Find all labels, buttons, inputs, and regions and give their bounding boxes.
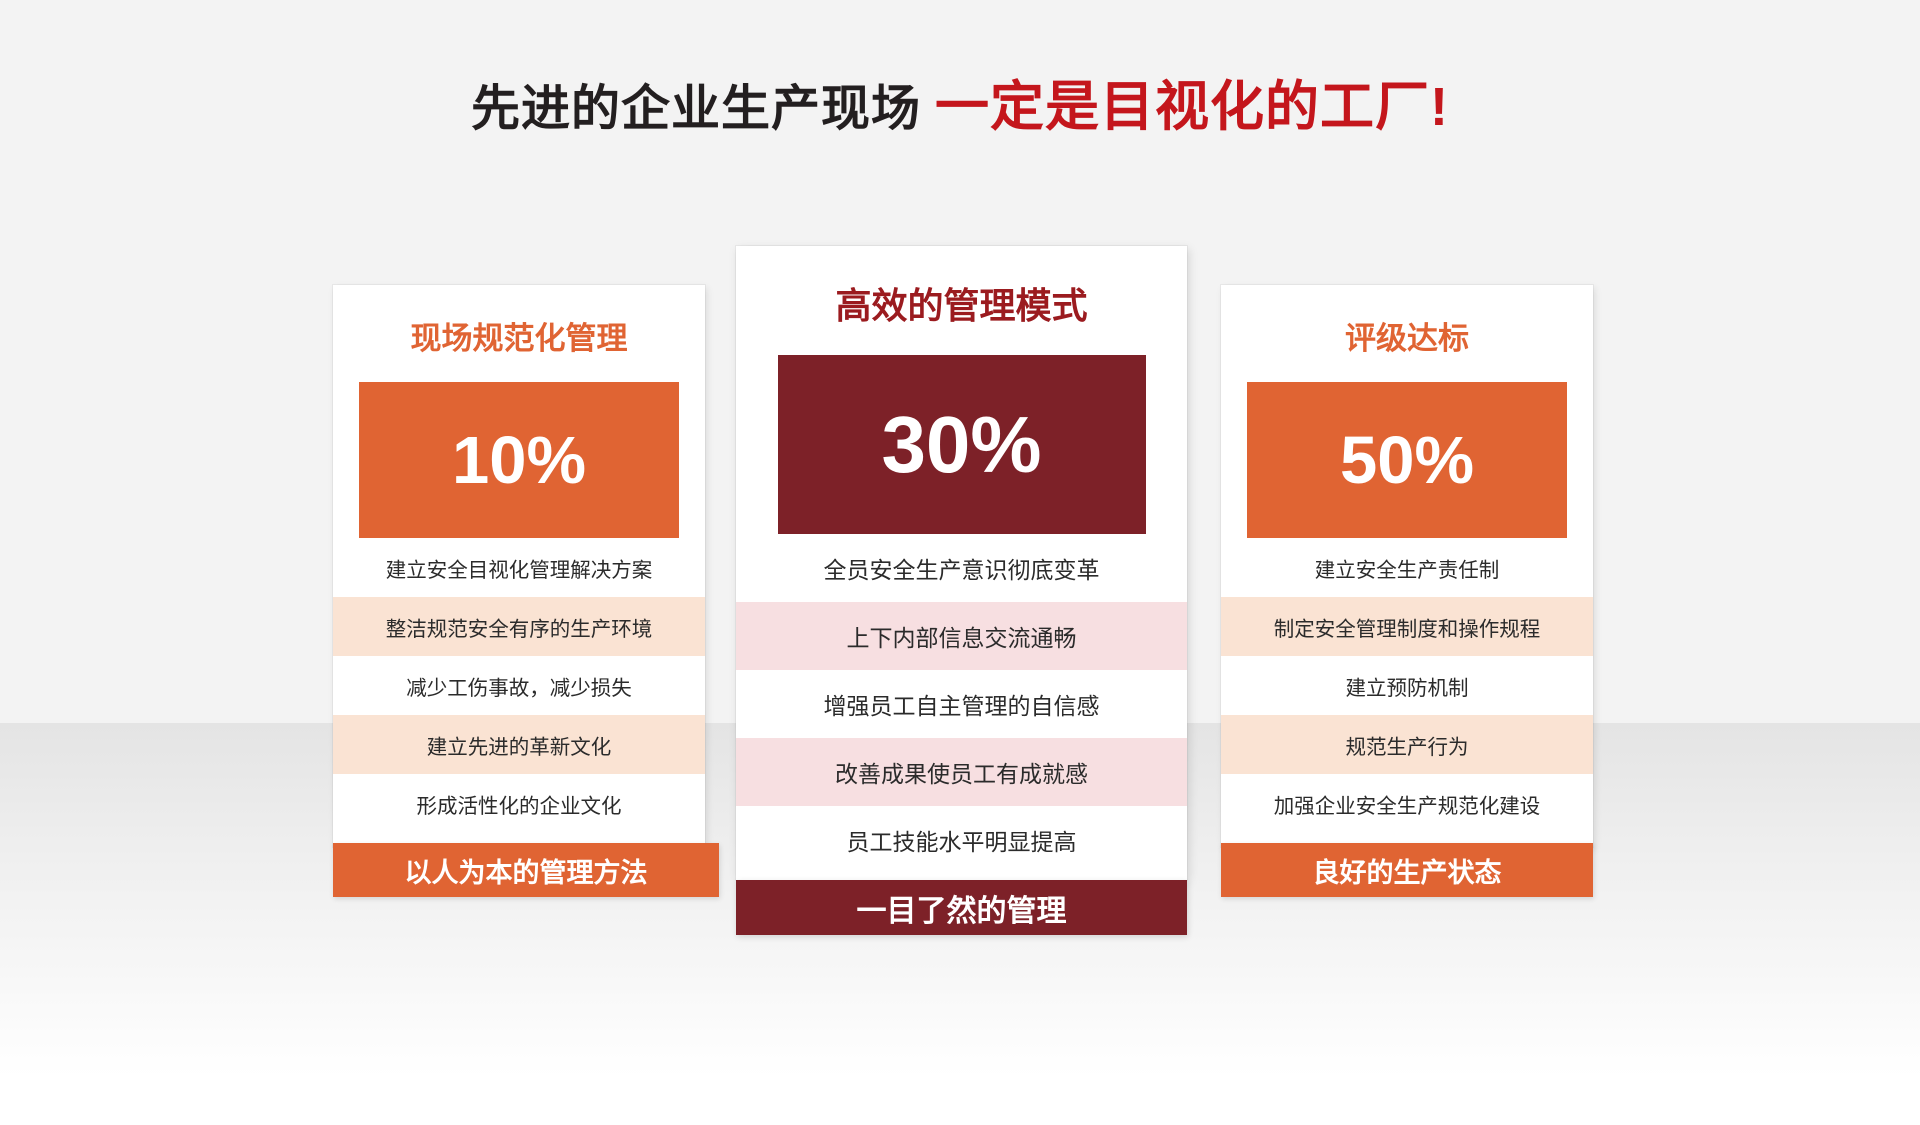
list-item[interactable]: 建立安全生产责任制 [1221,538,1593,597]
stat-value-box: 10% [359,382,679,538]
list-item[interactable]: 全员安全生产意识彻底变革 [736,534,1187,602]
list-item[interactable]: 建立安全目视化管理解决方案 [333,538,705,597]
page-title-lead: 先进的企业生产现场 [471,82,921,136]
list-item[interactable]: 建立先进的革新文化 [333,715,705,774]
list-item[interactable]: 增强员工自主管理的自信感 [736,670,1187,738]
page-title: 先进的企业生产现场一定是目视化的工厂! [0,78,1920,137]
card-title: 现场规范化管理 [333,285,705,358]
card-title: 评级达标 [1221,285,1593,358]
list-item[interactable]: 形成活性化的企业文化 [333,774,705,833]
card-footer-ribbon[interactable]: 良好的生产状态 [1221,843,1593,897]
list-item[interactable]: 整洁规范安全有序的生产环境 [333,597,705,656]
metric-card-efficient-management[interactable]: 高效的管理模式 30% 全员安全生产意识彻底变革 上下内部信息交流通畅 增强员工… [736,246,1187,880]
list-item[interactable]: 制定安全管理制度和操作规程 [1221,597,1593,656]
stat-value: 10% [452,427,586,494]
list-item[interactable]: 加强企业安全生产规范化建设 [1221,774,1593,833]
stat-value: 30% [881,405,1041,485]
card-footer-ribbon[interactable]: 一目了然的管理 [736,880,1187,935]
metric-card-site-standardization[interactable]: 现场规范化管理 10% 建立安全目视化管理解决方案 整洁规范安全有序的生产环境 … [333,285,705,847]
benefit-list: 全员安全生产意识彻底变革 上下内部信息交流通畅 增强员工自主管理的自信感 改善成… [736,534,1187,874]
page-title-accent: 一定是目视化的工厂! [935,77,1449,137]
list-item[interactable]: 改善成果使员工有成就感 [736,738,1187,806]
stat-value-box: 50% [1247,382,1567,538]
list-item[interactable]: 规范生产行为 [1221,715,1593,774]
benefit-list: 建立安全目视化管理解决方案 整洁规范安全有序的生产环境 减少工伤事故，减少损失 … [333,538,705,833]
metric-card-rating-compliance[interactable]: 评级达标 50% 建立安全生产责任制 制定安全管理制度和操作规程 建立预防机制 … [1221,285,1593,847]
benefit-list: 建立安全生产责任制 制定安全管理制度和操作规程 建立预防机制 规范生产行为 加强… [1221,538,1593,833]
card-title: 高效的管理模式 [736,246,1187,329]
stat-value: 50% [1340,427,1474,494]
list-item[interactable]: 上下内部信息交流通畅 [736,602,1187,670]
list-item[interactable]: 员工技能水平明显提高 [736,806,1187,874]
stat-value-box: 30% [778,355,1146,534]
list-item[interactable]: 减少工伤事故，减少损失 [333,656,705,715]
card-footer-ribbon[interactable]: 以人为本的管理方法 [333,843,719,897]
list-item[interactable]: 建立预防机制 [1221,656,1593,715]
